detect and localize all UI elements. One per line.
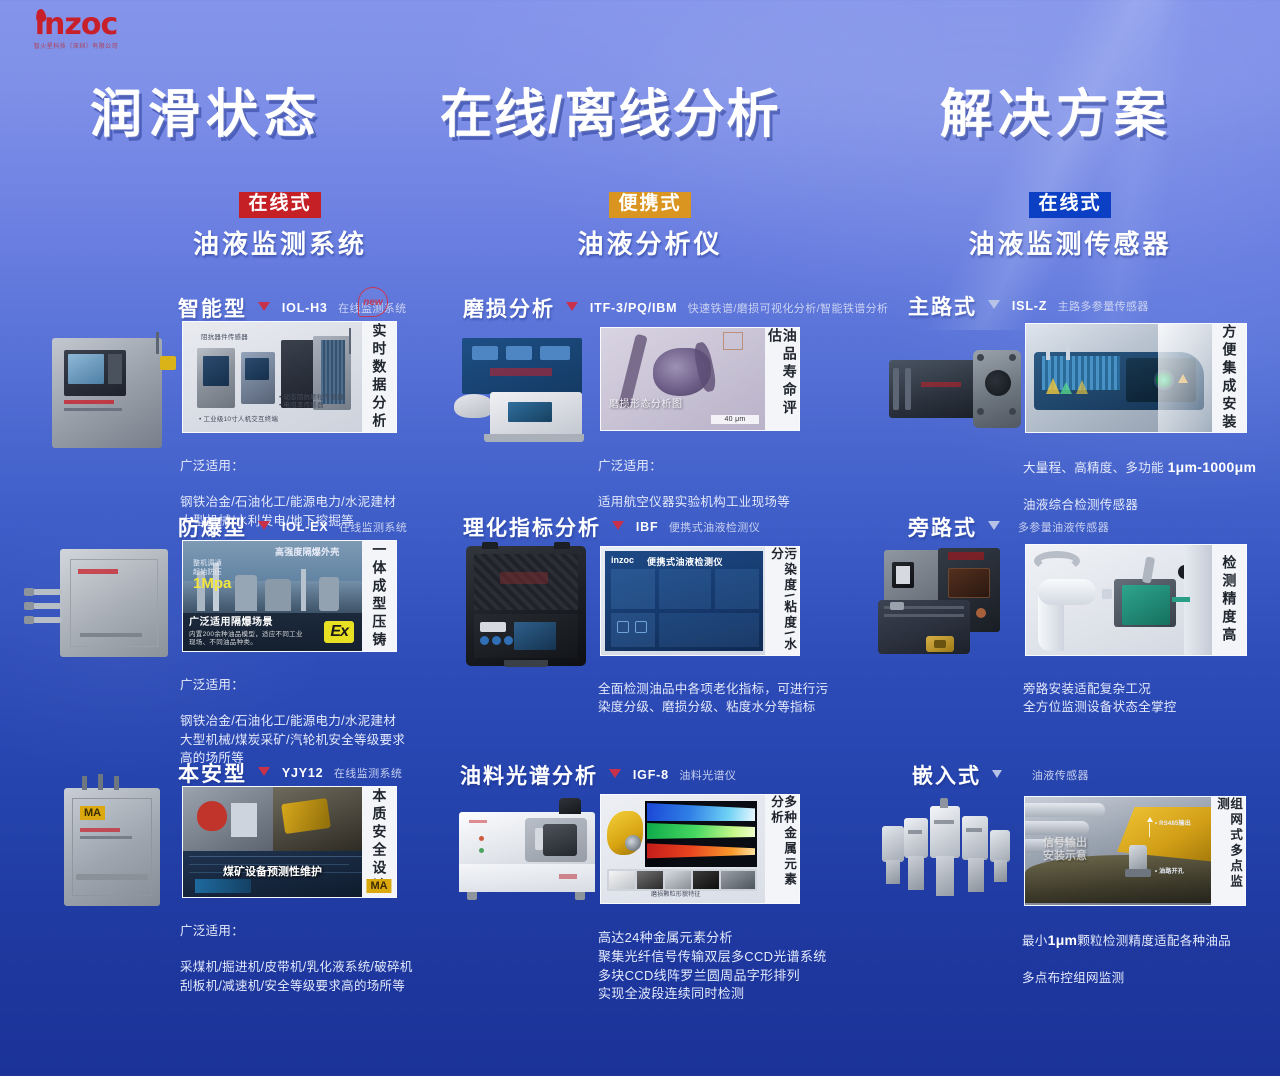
card-vertical-text: 实时数据分析 bbox=[372, 323, 387, 431]
product-block-itf3[interactable]: 磨损分析 ITF-3/PQ/IBM 快速铁谱/磨损可视化分析/智能铁谱分析 磨损… bbox=[463, 293, 813, 319]
product-name: 理化指标分析 bbox=[463, 517, 601, 540]
product-name: 旁路式 bbox=[908, 517, 977, 540]
screen-title: 便携式油液检测仪 bbox=[647, 555, 723, 568]
product-bullets: 旁路安装适配复杂工况 全方位监测设备状态全掌控 bbox=[1023, 662, 1273, 716]
photo-portable-case bbox=[460, 538, 590, 678]
bullets-rich-pre: 大量程、高精度、多功能 bbox=[1023, 461, 1168, 475]
product-header: 嵌入式 油液传感器 bbox=[912, 760, 1272, 786]
photo-embedded-install: • RS485输出 • 油路开孔 信号输出 安装示意 bbox=[1025, 797, 1211, 905]
bullets-lead: 广泛适用： bbox=[180, 678, 244, 692]
product-header: 油料光谱分析 IGF-8 油料光谱仪 bbox=[460, 760, 810, 786]
product-card-image: • RS485输出 • 油路开孔 信号输出 安装示意 组网式多点监测 bbox=[1024, 796, 1246, 906]
product-model: IGF-8 bbox=[633, 768, 669, 782]
product-card-image: 检测精度高 bbox=[1025, 544, 1247, 656]
column-title-1: 油液监测系统 bbox=[130, 224, 430, 261]
product-name: 智能型 bbox=[178, 298, 247, 321]
triangle-marker-icon bbox=[566, 302, 578, 311]
triangle-marker-icon bbox=[992, 770, 1002, 778]
ex-certification-icon: Ex bbox=[324, 621, 354, 643]
triangle-marker-icon bbox=[258, 302, 270, 311]
photo-iol-h3: 阻抗器件传感器 • 动态阻抗颗粒传感器 • 电阻率传感器 • 工业级10寸人机交… bbox=[183, 322, 362, 432]
product-bullets: 全面检测油品中各项老化指标，可进行污 染度分级、磨损分级、粘度水分等指标 bbox=[598, 662, 848, 716]
product-header: 主路式 ISL-Z 主路多参量传感器 bbox=[908, 291, 1268, 317]
header-solutions: 解决方案 bbox=[940, 72, 1172, 147]
card-side-panel: 组网式多点监测 bbox=[1211, 797, 1245, 905]
product-desc: 油液传感器 bbox=[1032, 770, 1089, 782]
product-block-bypass[interactable]: 旁路式 多参量油液传感器 检测精度高 旁路安装适配复杂工况 全方位监测设备状态全… bbox=[908, 512, 1268, 538]
brand-logo: inzoc 智火星科技（深圳）有限公司 bbox=[18, 10, 134, 54]
column-subtitle-3: 在线式 油液监测传感器 bbox=[920, 192, 1220, 261]
photo-embedded-sensors bbox=[880, 790, 1020, 910]
photo-integration bbox=[1026, 324, 1212, 432]
product-name: 本安型 bbox=[178, 763, 247, 786]
column-subtitle-2: 便携式 油液分析仪 bbox=[500, 192, 800, 261]
bullets-lead: 广泛适用： bbox=[180, 924, 244, 938]
card-side-panel: 多种金属元素分析 bbox=[765, 795, 799, 903]
column-title-2: 油液分析仪 bbox=[500, 224, 800, 261]
card-vertical-text: 方便集成安装 bbox=[1222, 324, 1237, 432]
ma-certification-badge: MA bbox=[366, 879, 391, 893]
photo-bypass-unit bbox=[878, 540, 1023, 675]
photo-overlay-text: 煤矿设备预测性维护 bbox=[223, 863, 322, 879]
card-vertical-text: 一体成型压铸 bbox=[372, 542, 387, 650]
bullets-body: 采煤机/掘进机/皮带机/乳化液系统/破碎机 刮板机/减速机/安全等级要求高的场所… bbox=[180, 960, 413, 992]
product-desc: 便携式油液检测仪 bbox=[669, 522, 760, 534]
label-oil-drill: • 油路开孔 bbox=[1155, 869, 1184, 877]
background-light-streak bbox=[860, 0, 1280, 330]
column-subtitles: 在线式 油液监测系统 便携式 油液分析仪 在线式 油液监测传感器 bbox=[0, 192, 1280, 262]
product-model: ISL-Z bbox=[1012, 299, 1047, 313]
header-online-offline-analysis: 在线/离线分析 bbox=[440, 72, 780, 147]
photo-spectrum: 磨损颗粒形貌特征 bbox=[601, 795, 765, 903]
bullets-body: 高达24种金属元素分析 聚集光纤信号传输双层多CCD光谱系统 多块CCD线阵罗兰… bbox=[598, 930, 827, 1002]
scale-bar-label: 40 μm bbox=[711, 415, 759, 424]
card-side-panel: 检测精度高 bbox=[1212, 545, 1246, 655]
triangle-marker-icon bbox=[258, 521, 270, 530]
photo-overlay-text: 信号输出 安装示意 bbox=[1043, 837, 1087, 862]
product-card-image: 阻抗器件传感器 • 动态阻抗颗粒传感器 • 电阻率传感器 • 工业级10寸人机交… bbox=[182, 321, 397, 433]
brand-subtitle: 智火星科技（深圳）有限公司 bbox=[18, 41, 134, 50]
label-bullet-2: • 电阻率传感器 bbox=[279, 402, 324, 410]
bullets-body: 全面检测油品中各项老化指标，可进行污 染度分级、磨损分级、粘度水分等指标 bbox=[598, 682, 828, 714]
bullets-highlight: 1μm-1000μm bbox=[1168, 459, 1257, 475]
photo-mainline-sensor bbox=[885, 340, 1025, 450]
photo-refinery: 高强度隔爆外壳 整机调通 起始防压 1Mpa 广泛适用隔爆场景 内置200余种油… bbox=[183, 541, 362, 651]
photo-coal-mine: 煤矿设备预测性维护 bbox=[183, 787, 362, 897]
new-badge: new bbox=[358, 287, 388, 317]
card-side-panel: 实时数据分析 bbox=[362, 322, 396, 432]
product-header: 磨损分析 ITF-3/PQ/IBM 快速铁谱/磨损可视化分析/智能铁谱分析 bbox=[463, 293, 813, 319]
photo-overlay-text: 磨损形态分析图 bbox=[609, 395, 683, 410]
badge-portable: 便携式 bbox=[609, 192, 690, 218]
card-side-panel: 油品寿命评估 bbox=[765, 328, 799, 430]
triangle-marker-icon bbox=[612, 521, 624, 530]
label-pressure-value: 1Mpa bbox=[193, 575, 231, 592]
photo-bypass-install bbox=[1026, 545, 1212, 655]
bullets-rich-pre: 最小 bbox=[1022, 934, 1048, 948]
bullets-body: 油液综合检测传感器 bbox=[1023, 498, 1138, 512]
column-title-3: 油液监测传感器 bbox=[920, 224, 1220, 261]
product-card-image: 方便集成安装 bbox=[1025, 323, 1247, 433]
triangle-marker-icon bbox=[609, 769, 621, 778]
product-desc: 快速铁谱/磨损可视化分析/智能铁谱分析 bbox=[688, 303, 889, 315]
product-header: 理化指标分析 IBF 便携式油液检测仪 bbox=[463, 512, 813, 538]
product-card-image: 高强度隔爆外壳 整机调通 起始防压 1Mpa 广泛适用隔爆场景 内置200余种油… bbox=[182, 540, 397, 652]
photo-spectrometer-device bbox=[455, 790, 605, 905]
photo-explosionproof-box bbox=[20, 545, 180, 665]
product-model: ITF-3/PQ/IBM bbox=[590, 301, 677, 315]
bullets-lead: 广泛适用： bbox=[598, 459, 662, 473]
card-side-panel: 本质安全设计 MA bbox=[362, 787, 396, 897]
card-vertical-text: 多种金属元素分析 bbox=[769, 795, 795, 903]
bullets-body: 旁路安装适配复杂工况 全方位监测设备状态全掌控 bbox=[1023, 682, 1177, 714]
screen-brand: inzoc bbox=[611, 555, 634, 565]
product-bullets: 广泛适用： 钢铁冶金/石油化工/能源电力/水泥建材 大型机械/煤炭采矿/汽轮机安… bbox=[180, 658, 420, 767]
column-subtitle-1: 在线式 油液监测系统 bbox=[130, 192, 430, 261]
badge-online-2: 在线式 bbox=[1029, 192, 1110, 218]
product-header: 本安型 YJY12 在线监测系统 bbox=[178, 758, 408, 784]
bullets-body: 适用航空仪器实验机构工业现场等 bbox=[598, 495, 790, 509]
product-model: YJY12 bbox=[282, 766, 324, 780]
product-card-image: 磨损形态分析图 40 μm 油品寿命评估 bbox=[600, 327, 800, 431]
card-vertical-text: 检测精度高 bbox=[1222, 555, 1237, 645]
product-desc: 在线监测系统 bbox=[334, 768, 402, 780]
label-flameproof-shell: 高强度隔爆外壳 bbox=[275, 547, 339, 559]
product-name: 防爆型 bbox=[178, 517, 247, 540]
bullets-highlight: 1μm bbox=[1048, 932, 1078, 948]
product-header: 防爆型 IOL-EX 在线监测系统 bbox=[178, 512, 408, 538]
product-desc: 油料光谱仪 bbox=[679, 770, 736, 782]
strip-caption: 磨损颗粒形貌特征 bbox=[651, 892, 701, 900]
photo-intrinsic-safe-unit: MA bbox=[36, 770, 181, 915]
header-lubrication-status: 润滑状态 bbox=[90, 72, 322, 147]
product-block-ibf[interactable]: 理化指标分析 IBF 便携式油液检测仪 inzoc 便携式油液检测仪 污染度\粘… bbox=[463, 512, 813, 538]
bullets-lead: 广泛适用： bbox=[180, 459, 244, 473]
product-block-iol-ex[interactable]: 防爆型 IOL-EX 在线监测系统 高强度隔爆外壳 整机调通 起始防压 1Mpa… bbox=[178, 512, 408, 538]
card-side-panel: 方便集成安装 bbox=[1212, 324, 1246, 432]
product-name: 主路式 bbox=[908, 296, 977, 319]
label-bullet-3: • 工业级10寸人机交互终端 bbox=[199, 416, 278, 424]
product-block-isl-z[interactable]: 主路式 ISL-Z 主路多参量传感器 方便集成安装 大量程、高精度、多功能 1μ… bbox=[908, 291, 1268, 317]
product-bullets: 广泛适用： 适用航空仪器实验机构工业现场等 bbox=[598, 439, 838, 512]
card-vertical-text: 油品寿命评估 bbox=[767, 328, 796, 430]
bullets-body: 多点布控组网监测 bbox=[1022, 971, 1124, 985]
label-rs485: • RS485输出 bbox=[1155, 821, 1191, 829]
product-block-igf8[interactable]: 油料光谱分析 IGF-8 油料光谱仪 磨损颗粒形貌特征 多种金属元素分析 高达2… bbox=[460, 760, 810, 786]
triangle-marker-icon bbox=[988, 521, 1000, 530]
product-card-image: inzoc 便携式油液检测仪 污染度\粘度\水分 bbox=[600, 546, 800, 656]
product-name: 油料光谱分析 bbox=[460, 765, 598, 788]
photo-ferrography: 磨损形态分析图 40 μm bbox=[601, 328, 765, 430]
section-headers: 润滑状态 在线/离线分析 解决方案 bbox=[0, 72, 1280, 144]
product-block-iol-h3[interactable]: 智能型 IOL-H3 在线监测系统 new 阻抗器件传感器 • 动态阻抗颗粒传感… bbox=[178, 293, 408, 319]
product-bullets: 大量程、高精度、多功能 1μm-1000μm 油液综合检测传感器 bbox=[1023, 439, 1273, 514]
product-bullets: 广泛适用： 采煤机/掘进机/皮带机/乳化液系统/破碎机 刮板机/减速机/安全等级… bbox=[180, 904, 430, 995]
product-desc: 主路多参量传感器 bbox=[1058, 301, 1149, 313]
photo-ferrograph-device bbox=[450, 332, 595, 462]
product-card-image: 磨损颗粒形貌特征 多种金属元素分析 bbox=[600, 794, 800, 904]
triangle-marker-icon bbox=[258, 767, 270, 776]
product-card-image: 煤矿设备预测性维护 本质安全设计 MA bbox=[182, 786, 397, 898]
product-bullets: 高达24种金属元素分析 聚集光纤信号传输双层多CCD光谱系统 多块CCD线阵罗兰… bbox=[598, 910, 858, 1004]
product-name: 嵌入式 bbox=[912, 765, 981, 788]
product-model: IBF bbox=[636, 520, 659, 534]
label-impedance-sensor: 阻抗器件传感器 bbox=[201, 334, 248, 342]
card-vertical-text: 污染度\粘度\水分 bbox=[769, 547, 795, 655]
product-name: 磨损分析 bbox=[463, 298, 555, 321]
product-header: 旁路式 多参量油液传感器 bbox=[908, 512, 1268, 538]
product-model: IOL-EX bbox=[282, 520, 328, 534]
card-side-panel: 一体成型压铸 bbox=[362, 541, 396, 651]
product-desc: 在线监测系统 bbox=[339, 522, 407, 534]
card-side-panel: 污染度\粘度\水分 bbox=[765, 547, 799, 655]
photo-cabinet-iol-h3 bbox=[42, 330, 177, 455]
card-vertical-text: 组网式多点监测 bbox=[1215, 797, 1241, 905]
product-model: IOL-H3 bbox=[282, 301, 328, 315]
product-block-yjy12[interactable]: 本安型 YJY12 在线监测系统 煤矿设备预测性维护 本质安全设计 MA 广泛适… bbox=[178, 758, 408, 784]
bullets-rich-post: 颗粒检测精度适配各种油品 bbox=[1077, 934, 1231, 948]
photo-ibf-screen: inzoc 便携式油液检测仪 bbox=[601, 547, 765, 655]
product-desc: 多参量油液传感器 bbox=[1018, 522, 1109, 534]
badge-online-1: 在线式 bbox=[239, 192, 320, 218]
product-bullets: 最小1μm颗粒检测精度适配各种油品 多点布控组网监测 bbox=[1022, 912, 1280, 987]
triangle-marker-icon bbox=[988, 300, 1000, 309]
product-block-embedded[interactable]: 嵌入式 油液传感器 • RS485输出 • 油路开孔 信号输出 安装示意 组网式… bbox=[912, 760, 1272, 786]
